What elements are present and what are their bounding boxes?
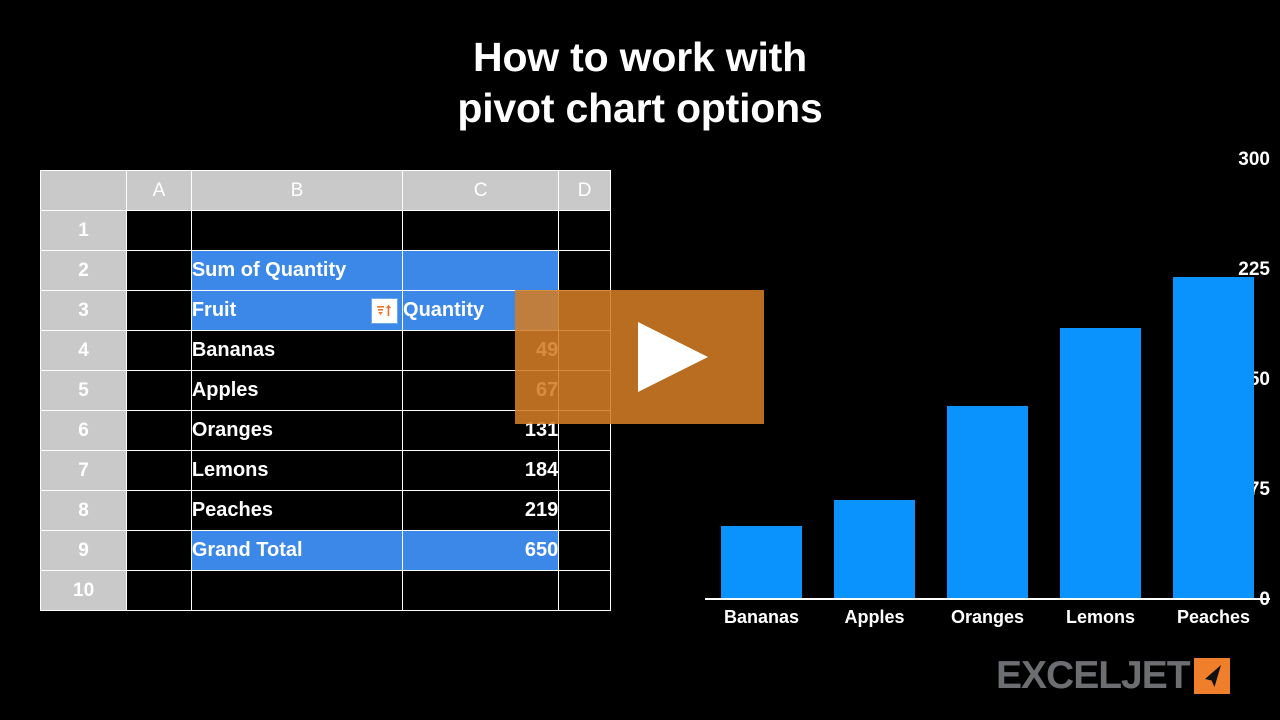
title-line-1: How to work with [0,32,1280,83]
cell-c8[interactable]: 219 [403,491,559,531]
cell-d10[interactable] [559,571,611,611]
cell-d7[interactable] [559,451,611,491]
table-row: 7 Lemons 184 [41,451,611,491]
cell-a7[interactable] [127,451,192,491]
cell-b7[interactable]: Lemons [191,451,402,491]
cell-c1[interactable] [403,211,559,251]
column-header-a[interactable]: A [127,171,192,211]
cell-b1[interactable] [191,211,402,251]
row-header-10[interactable]: 10 [41,571,127,611]
cell-b3-label: Fruit [192,299,236,321]
title-line-2: pivot chart options [0,83,1280,134]
cell-a3[interactable] [127,291,192,331]
exceljet-logo: EXCELJET [996,656,1230,695]
bar-lemons[interactable] [1060,328,1142,598]
row-header-5[interactable]: 5 [41,371,127,411]
row-header-4[interactable]: 4 [41,331,127,371]
cell-d9[interactable] [559,531,611,571]
cell-a10[interactable] [127,571,192,611]
table-row: 10 [41,571,611,611]
row-header-9[interactable]: 9 [41,531,127,571]
logo-wordmark: EXCELJET [996,656,1190,695]
cell-a4[interactable] [127,331,192,371]
cell-c7[interactable]: 184 [403,451,559,491]
row-header-8[interactable]: 8 [41,491,127,531]
cell-b10[interactable] [191,571,402,611]
cursor-arrow-icon [1194,658,1230,694]
x-axis-line [705,598,1270,600]
cell-d2[interactable] [559,251,611,291]
cell-a8[interactable] [127,491,192,531]
cell-b3[interactable]: Fruit [191,291,402,331]
column-header-c[interactable]: C [403,171,559,211]
bar-peaches[interactable] [1173,277,1255,598]
x-axis-tick: Lemons [1041,607,1161,628]
row-header-7[interactable]: 7 [41,451,127,491]
chart-plot-area [705,160,1270,600]
x-axis-tick: Bananas [702,607,822,628]
cell-b2[interactable]: Sum of Quantity [191,251,402,291]
column-header-d[interactable]: D [559,171,611,211]
cell-b6[interactable]: Oranges [191,411,402,451]
cell-b8[interactable]: Peaches [191,491,402,531]
play-triangle-icon[interactable] [638,322,708,392]
bar-oranges[interactable] [947,406,1029,598]
cell-a9[interactable] [127,531,192,571]
column-header-row: A B C D [41,171,611,211]
sort-filter-icon[interactable] [371,298,398,324]
cell-c10[interactable] [403,571,559,611]
bar-apples[interactable] [834,500,916,598]
page-title: How to work with pivot chart options [0,32,1280,135]
cell-a1[interactable] [127,211,192,251]
cell-b4[interactable]: Bananas [191,331,402,371]
table-row: 1 [41,211,611,251]
row-header-3[interactable]: 3 [41,291,127,331]
row-header-6[interactable]: 6 [41,411,127,451]
cell-b9[interactable]: Grand Total [191,531,402,571]
row-header-2[interactable]: 2 [41,251,127,291]
table-row: 9 Grand Total 650 [41,531,611,571]
cell-c9[interactable]: 650 [403,531,559,571]
x-axis-tick: Peaches [1154,607,1274,628]
cell-b5[interactable]: Apples [191,371,402,411]
video-play-overlay[interactable] [515,290,764,424]
select-all-corner[interactable] [41,171,127,211]
cell-d1[interactable] [559,211,611,251]
cell-a5[interactable] [127,371,192,411]
x-axis-tick: Oranges [928,607,1048,628]
slide-canvas: How to work with pivot chart options A B… [0,0,1280,720]
cell-a6[interactable] [127,411,192,451]
row-header-1[interactable]: 1 [41,211,127,251]
x-axis-tick: Apples [815,607,935,628]
cell-a2[interactable] [127,251,192,291]
column-header-b[interactable]: B [191,171,402,211]
table-row: 8 Peaches 219 [41,491,611,531]
cell-c2[interactable] [403,251,559,291]
table-row: 2 Sum of Quantity [41,251,611,291]
bar-bananas[interactable] [721,526,803,598]
cell-d8[interactable] [559,491,611,531]
